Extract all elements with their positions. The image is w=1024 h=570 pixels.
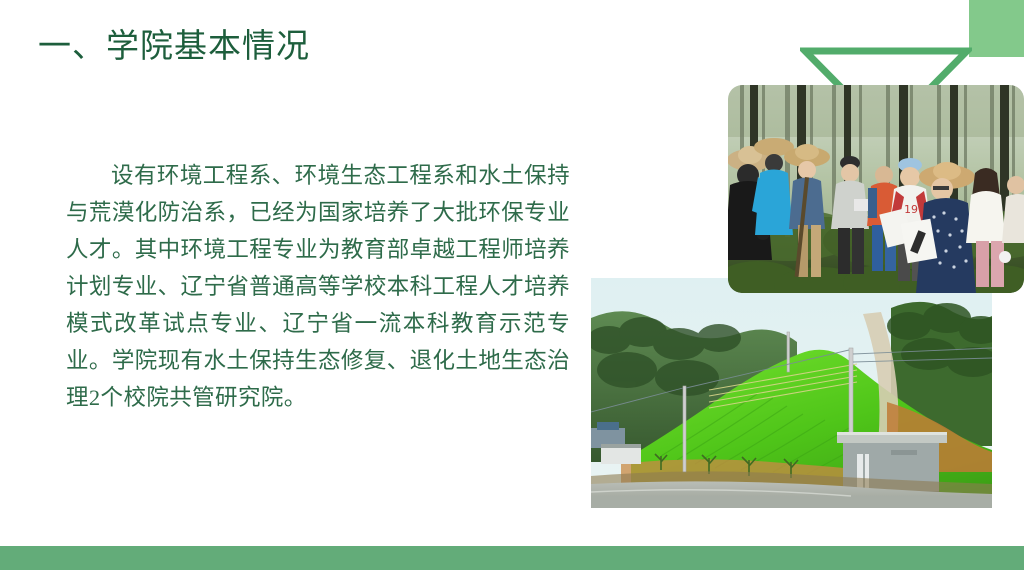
slope-vegetation-restoration-photo [591,278,992,508]
slide-canvas: 一、学院基本情况 设有环境工程系、环境生态工程系和水土保持与荒漠化防治系，已经为… [0,0,1024,570]
forest-field-survey-photo: 19 [728,85,1024,293]
green-footer-band [0,546,1024,570]
svg-text:19: 19 [904,203,918,216]
page-title: 一、学院基本情况 [38,26,310,68]
body-paragraph: 设有环境工程系、环境生态工程系和水土保持与荒漠化防治系，已经为国家培养了大批环保… [66,157,570,416]
green-rectangle-decoration [969,0,1024,57]
